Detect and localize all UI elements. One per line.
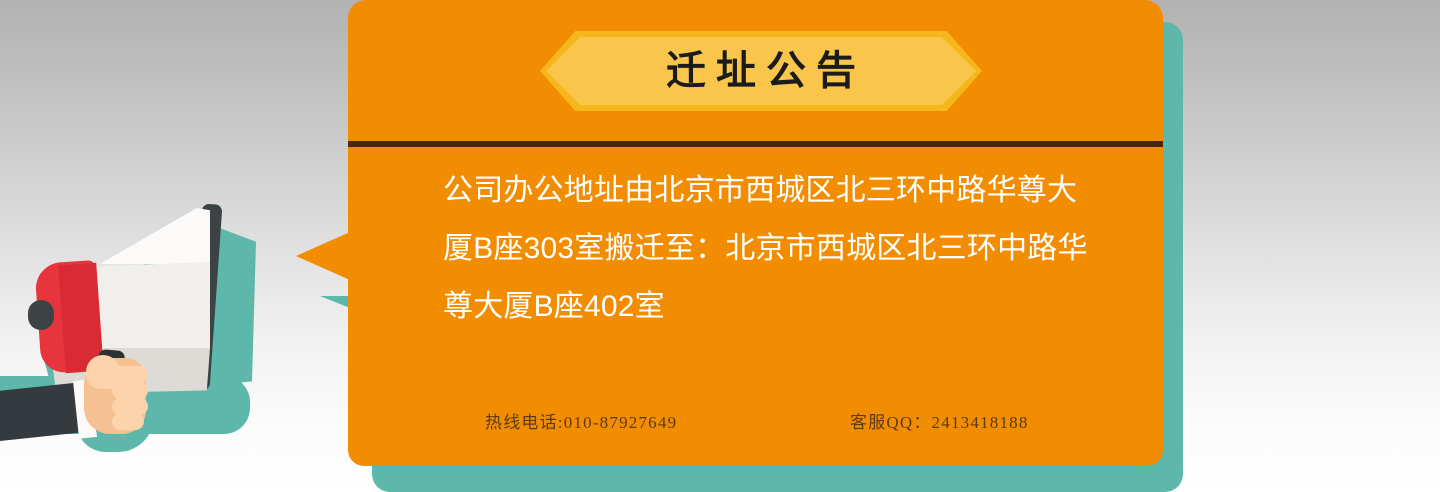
speech-bubble-tail [296,232,350,280]
title-banner: 迁址公告 [540,31,982,111]
customer-service-qq: 客服QQ：2413418188 [850,408,1029,433]
contact-footer: 热线电话:010-87927649 客服QQ：2413418188 [348,408,1163,438]
page-title: 迁址公告 [540,31,982,111]
megaphone-icon [0,180,340,492]
announcement-banner: 迁址公告 公司办公地址由北京市西城区北三环中路华尊大厦B座303室搬迁至：北京市… [0,0,1440,492]
hand-finger [112,366,148,383]
megaphone-back-nub [28,300,54,330]
hand-finger [112,413,144,430]
hand-finger [112,382,148,399]
notice-body-text: 公司办公地址由北京市西城区北三环中路华尊大厦B座303室搬迁至：北京市西城区北三… [443,162,1091,336]
megaphone-cone-highlight [100,208,210,264]
hotline-phone: 热线电话:010-87927649 [485,408,677,433]
notice-card: 迁址公告 公司办公地址由北京市西城区北三环中路华尊大厦B座303室搬迁至：北京市… [348,0,1163,466]
divider [348,141,1163,147]
